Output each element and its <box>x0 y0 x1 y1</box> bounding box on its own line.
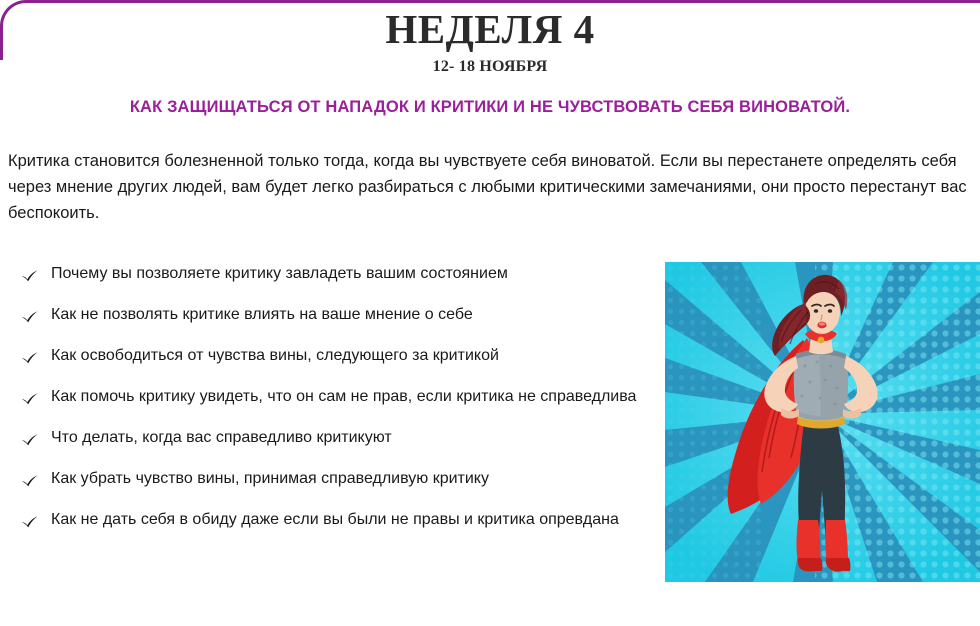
page-header: НЕДЕЛЯ 4 12- 18 НОЯБРЯ КАК ЗАЩИЩАТЬСЯ ОТ… <box>0 0 980 118</box>
check-icon <box>20 471 40 491</box>
check-icon <box>20 348 40 368</box>
list-item: Как не позволять критике влиять на ваше … <box>18 303 638 327</box>
list-item: Как помочь критику увидеть, что он сам н… <box>18 385 638 409</box>
content-area: Почему вы позволяете критику завладеть в… <box>0 262 980 532</box>
intro-paragraph: Критика становится болезненной только то… <box>8 148 972 226</box>
list-item: Что делать, когда вас справедливо критик… <box>18 426 638 450</box>
check-icon <box>20 389 40 409</box>
superhero-illustration <box>665 262 980 582</box>
check-icon <box>20 512 40 532</box>
lesson-checklist: Почему вы позволяете критику завладеть в… <box>0 262 638 532</box>
list-item-label: Почему вы позволяете критику завладеть в… <box>51 265 508 282</box>
week-date-range: 12- 18 НОЯБРЯ <box>0 56 980 78</box>
list-item: Как не дать себя в обиду даже если вы бы… <box>18 508 638 532</box>
check-icon <box>20 266 40 286</box>
check-icon <box>20 430 40 450</box>
list-item: Как убрать чувство вины, принимая справе… <box>18 467 638 491</box>
list-item-label: Как убрать чувство вины, принимая справе… <box>51 470 489 487</box>
list-item: Как освободиться от чувства вины, следую… <box>18 344 638 368</box>
list-item-label: Как освободиться от чувства вины, следую… <box>51 347 499 364</box>
list-item-label: Что делать, когда вас справедливо критик… <box>51 429 392 446</box>
list-item: Почему вы позволяете критику завладеть в… <box>18 262 638 286</box>
week-page: НЕДЕЛЯ 4 12- 18 НОЯБРЯ КАК ЗАЩИЩАТЬСЯ ОТ… <box>0 0 980 626</box>
check-icon <box>20 307 40 327</box>
lesson-subtitle: КАК ЗАЩИЩАТЬСЯ ОТ НАПАДОК И КРИТИКИ И НЕ… <box>0 96 980 118</box>
list-item-label: Как не дать себя в обиду даже если вы бы… <box>51 511 619 528</box>
list-item-label: Как не позволять критике влиять на ваше … <box>51 306 473 323</box>
list-item-label: Как помочь критику увидеть, что он сам н… <box>51 388 636 405</box>
page-title: НЕДЕЛЯ 4 <box>0 6 980 52</box>
